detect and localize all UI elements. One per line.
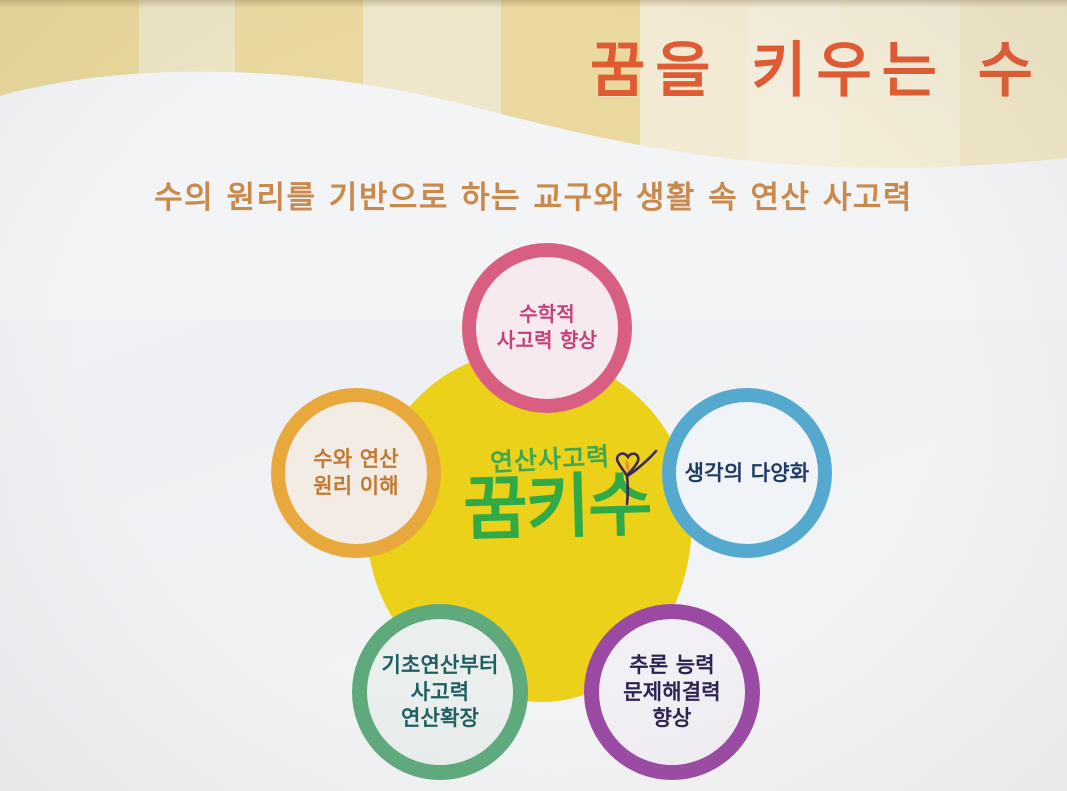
node-line: 수학적 <box>497 302 597 328</box>
node-line: 사고력 <box>381 679 498 706</box>
node-line: 연산확장 <box>381 705 498 732</box>
node-thought-diversity[interactable]: 생각의 다양화 <box>662 388 832 558</box>
node-line: 사고력 향상 <box>497 328 597 354</box>
node-line: 기초연산부터 <box>381 652 498 679</box>
node-line: 향상 <box>623 705 721 732</box>
brand-logo: 연산사고력 꿈키수 <box>432 440 682 590</box>
heart-flourish-icon <box>608 446 660 508</box>
concept-diagram: 수학적 사고력 향상 생각의 다양화 추론 능력 문제해결력 향상 기초연산부터… <box>0 0 1067 791</box>
node-math-thinking[interactable]: 수학적 사고력 향상 <box>462 243 632 413</box>
node-line: 추론 능력 <box>623 652 721 679</box>
node-number-operation-principles[interactable]: 수와 연산 원리 이해 <box>271 388 441 558</box>
node-reasoning-problem-solving[interactable]: 추론 능력 문제해결력 향상 <box>584 604 760 780</box>
node-line: 수와 연산 <box>313 446 399 473</box>
node-line: 원리 이해 <box>313 473 399 500</box>
node-basic-to-expanded[interactable]: 기초연산부터 사고력 연산확장 <box>352 604 528 780</box>
node-line: 문제해결력 <box>623 679 721 706</box>
node-line: 생각의 다양화 <box>685 460 810 487</box>
poster-canvas: 꿈을 키우는 수 수의 원리를 기반으로 하는 교구와 생활 속 연산 사고력 … <box>0 0 1067 791</box>
